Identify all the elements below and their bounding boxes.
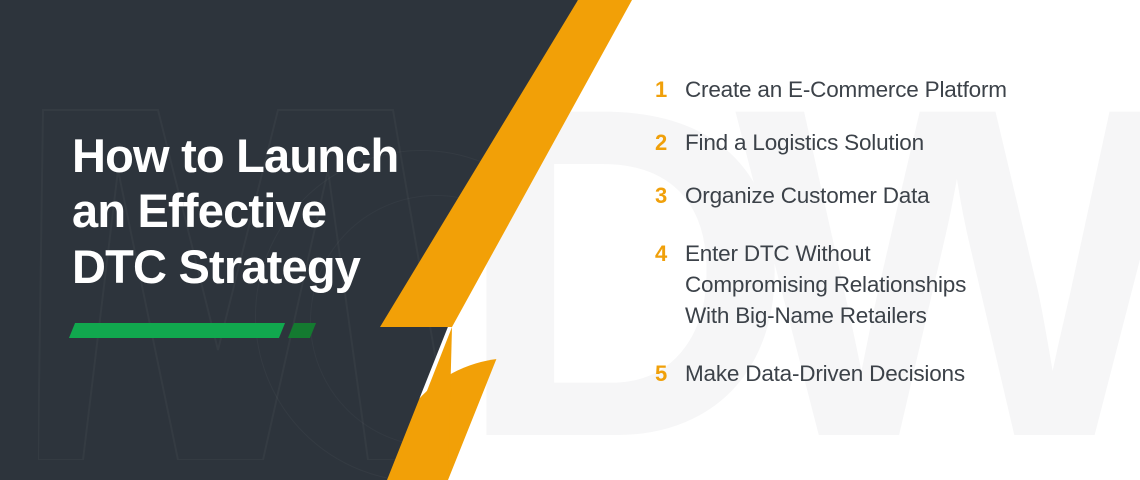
list-item: 1 Create an E-Commerce Platform [655,74,1095,105]
step-label-line: Find a Logistics Solution [685,127,924,158]
step-label: Make Data-Driven Decisions [685,358,965,389]
step-label-line: Compromising Relationships [685,269,966,300]
steps-list: 1 Create an E-Commerce Platform 2 Find a… [655,74,1095,389]
list-item: 3 Organize Customer Data [655,180,1095,211]
list-item: 5 Make Data-Driven Decisions [655,358,1095,389]
step-label: Organize Customer Data [685,180,929,211]
step-label-line: With Big-Name Retailers [685,300,966,331]
infographic-canvas: D W How to Launch an Effective DTC Strat… [0,0,1140,480]
step-number: 2 [655,127,685,158]
step-label: Find a Logistics Solution [685,127,924,158]
step-label: Enter DTC Without Compromising Relations… [685,238,966,331]
step-number: 4 [655,238,685,269]
list-item: 2 Find a Logistics Solution [655,127,1095,158]
step-number: 5 [655,358,685,389]
page-title-line-3: DTC Strategy [72,239,472,294]
accent-segment-primary [69,323,285,338]
step-label-line: Enter DTC Without [685,238,966,269]
page-title-line-1: How to Launch [72,128,472,183]
list-item: 4 Enter DTC Without Compromising Relatio… [655,238,1095,331]
step-number: 1 [655,74,685,105]
step-label: Create an E-Commerce Platform [685,74,1007,105]
page-title-line-2: an Effective [72,183,472,238]
green-accent-rule [72,323,313,338]
accent-segment-secondary [288,323,316,338]
step-label-line: Organize Customer Data [685,180,929,211]
step-label-line: Make Data-Driven Decisions [685,358,965,389]
step-number: 3 [655,180,685,211]
page-title: How to Launch an Effective DTC Strategy [72,128,472,294]
step-label-line: Create an E-Commerce Platform [685,74,1007,105]
